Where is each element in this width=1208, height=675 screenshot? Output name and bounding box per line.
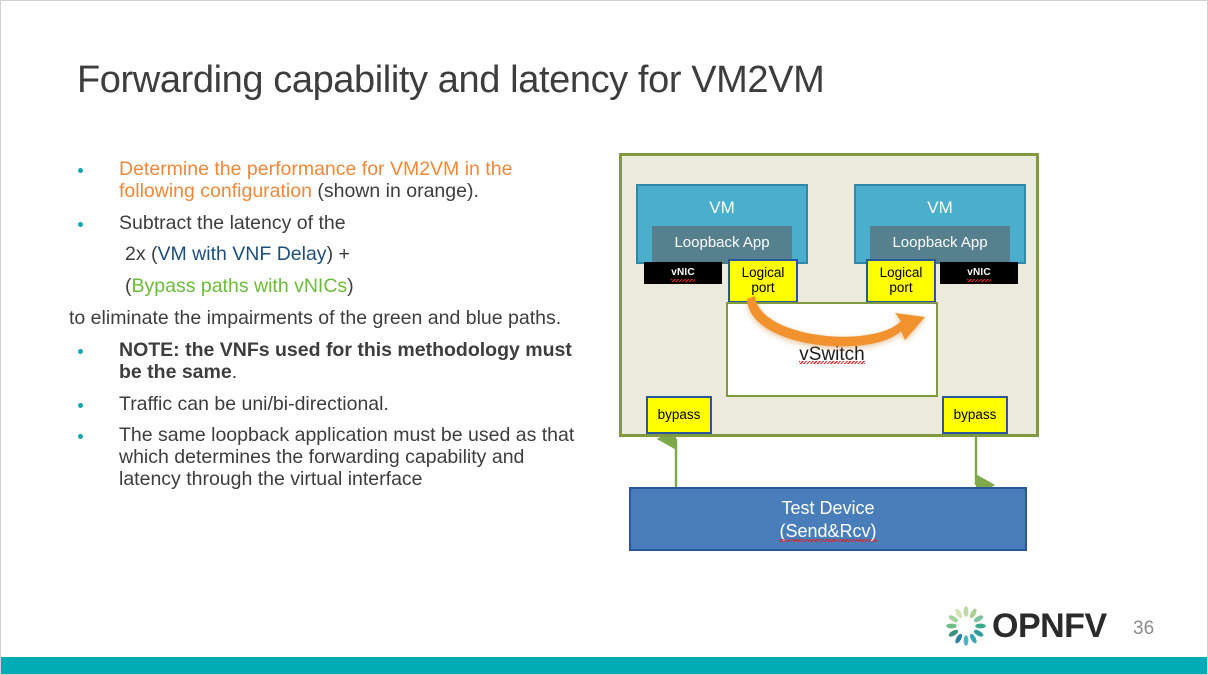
page-title: Forwarding capability and latency for VM… (77, 59, 824, 102)
bullet-2-line-4-text: to eliminate the impairments of the gree… (69, 307, 561, 329)
bullet-3-rest: . (232, 361, 237, 383)
formula-suffix: ) + (327, 243, 350, 265)
logical-port-left: Logical port (728, 259, 798, 303)
logical-port-left-line2: port (730, 281, 796, 296)
formula2-suffix: ) (347, 275, 354, 297)
bullet-2-text: Subtract the latency of the (119, 212, 346, 234)
vswitch-box: vSwitch (726, 302, 938, 397)
formula-prefix: 2x ( (125, 243, 158, 265)
vnic-left-label: vNIC (671, 262, 695, 284)
footer-accent-bar (1, 657, 1207, 674)
logical-port-right: Logical port (866, 259, 936, 303)
logical-port-left-line1: Logical (730, 266, 796, 281)
vnic-left: vNIC (644, 262, 722, 284)
bullet-item-2: Subtract the latency of the (69, 213, 589, 235)
vm-right-title: VM (856, 198, 1024, 218)
vswitch-text: vSwitch (799, 344, 864, 366)
bullet-2-line-2: 2x (VM with VNF Delay) + (69, 244, 589, 266)
vswitch-label: vSwitch (728, 344, 936, 366)
test-device-line2-text: (Send&Rcv) (779, 520, 876, 543)
bypass-right: bypass (942, 396, 1008, 434)
host-container: VM Loopback App VM Loopback App vNIC vNI… (619, 153, 1039, 437)
bullet-1-rest: (shown in orange). (312, 180, 479, 202)
bullet-item-1: Determine the performance for VM2VM in t… (69, 159, 589, 203)
test-device-box: Test Device (Send&Rcv) (629, 487, 1027, 551)
vm-left: VM Loopback App (636, 184, 808, 264)
page-number: 36 (1133, 618, 1154, 640)
bullet-4-text: Traffic can be uni/bi-directional. (119, 393, 389, 415)
bullet-list: Determine the performance for VM2VM in t… (69, 159, 589, 501)
bullet-3-bold: NOTE: the VNFs used for this methodology… (119, 339, 572, 383)
opnfv-wordmark: OPNFV (992, 607, 1107, 646)
test-device-line2: (Send&Rcv) (631, 520, 1025, 543)
vnic-right-label: vNIC (967, 262, 991, 284)
opnfv-petal-mark (944, 604, 988, 648)
vm2vm-diagram: VM Loopback App VM Loopback App vNIC vNI… (619, 153, 1043, 561)
bullet-2-line-4: to eliminate the impairments of the gree… (69, 308, 589, 330)
bullet-item-5: The same loopback application must be us… (69, 425, 589, 490)
test-device-line1: Test Device (631, 497, 1025, 520)
bypass-left: bypass (646, 396, 712, 434)
bullet-5-text: The same loopback application must be us… (119, 424, 574, 490)
bullet-item-3: NOTE: the VNFs used for this methodology… (69, 340, 589, 384)
bullet-2-line-3: (Bypass paths with vNICs) (69, 276, 589, 298)
opnfv-logo: OPNFV (944, 602, 1116, 648)
vm-right: VM Loopback App (854, 184, 1026, 264)
slide-canvas: Forwarding capability and latency for VM… (0, 0, 1208, 675)
formula-green-term: Bypass paths with vNICs (132, 275, 348, 297)
vm-left-title: VM (638, 198, 806, 218)
formula-blue-term: VM with VNF Delay (158, 243, 327, 265)
vnic-right: vNIC (940, 262, 1018, 284)
logical-port-right-line1: Logical (868, 266, 934, 281)
logical-port-right-line2: port (868, 281, 934, 296)
bullet-item-4: Traffic can be uni/bi-directional. (69, 394, 589, 416)
